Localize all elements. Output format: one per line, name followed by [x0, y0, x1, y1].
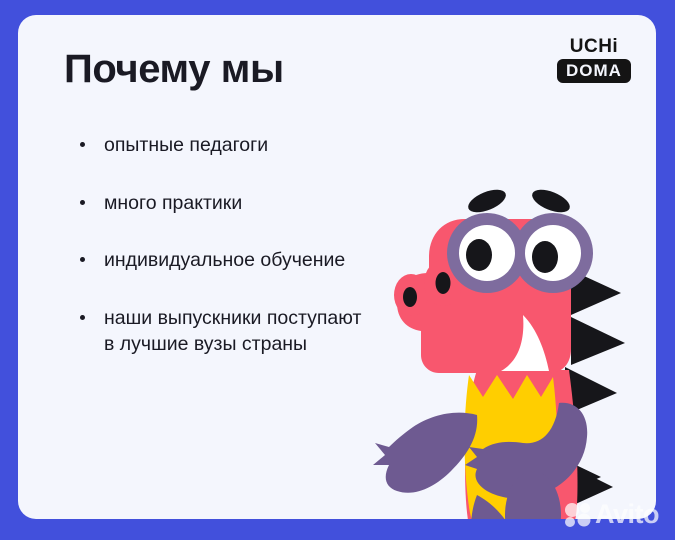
mascot-arm-right — [465, 403, 587, 499]
poster-canvas: UCHi DOMA Почему мы опытные педагоги мно… — [0, 0, 675, 540]
back-spikes-icon — [555, 270, 625, 507]
logo-wordmark-top: UCHi — [554, 37, 634, 56]
mascot-nostril-left — [403, 287, 417, 307]
dinosaur-mascot-illustration — [373, 165, 656, 519]
page-title: Почему мы — [64, 47, 284, 92]
mascot-body — [465, 370, 578, 519]
mascot-pupil-left — [466, 239, 492, 271]
bullet-dot-icon — [80, 315, 85, 320]
bullet-dot-icon — [80, 142, 85, 147]
list-item: опытные педагоги — [76, 133, 376, 159]
uchi-doma-logo: UCHi DOMA — [554, 37, 634, 83]
list-item-label: опытные педагоги — [104, 134, 268, 156]
mascot-eye-right — [525, 225, 581, 281]
list-item-label: много практики — [104, 192, 242, 214]
list-item: индивидуальное обучение — [76, 248, 376, 274]
mascot-leg-shading — [505, 471, 561, 519]
mascot-belly — [465, 375, 558, 519]
list-item: наши выпускники поступают в лучшие вузы … — [76, 306, 376, 357]
mascot-eyebrow-right — [529, 185, 573, 217]
logo-wordmark-badge: DOMA — [557, 59, 631, 83]
mascot-arm-left — [373, 413, 477, 493]
list-item-label: индивидуальное обучение — [104, 249, 345, 271]
mascot-head — [397, 219, 571, 373]
mascot-snout-right — [424, 260, 462, 306]
mascot-pupil-right — [532, 241, 558, 273]
mascot-eye-left — [459, 225, 515, 281]
mascot-eyebrow-left — [465, 185, 509, 217]
mascot-snout-left — [394, 274, 428, 316]
list-item-label: наши выпускники поступают в лучшие вузы … — [104, 307, 361, 355]
content-card: UCHi DOMA Почему мы опытные педагоги мно… — [18, 15, 656, 519]
mascot-foot-left — [471, 495, 523, 519]
bullet-dot-icon — [80, 200, 85, 205]
mascot-tooth — [501, 315, 549, 371]
list-item: много практики — [76, 191, 376, 217]
benefits-list: опытные педагоги много практики индивиду… — [76, 133, 376, 358]
bullet-dot-icon — [80, 257, 85, 262]
mascot-glasses-left-ring — [447, 213, 527, 293]
mascot-nostril-right — [436, 272, 451, 294]
mascot-glasses-right-ring — [513, 213, 593, 293]
